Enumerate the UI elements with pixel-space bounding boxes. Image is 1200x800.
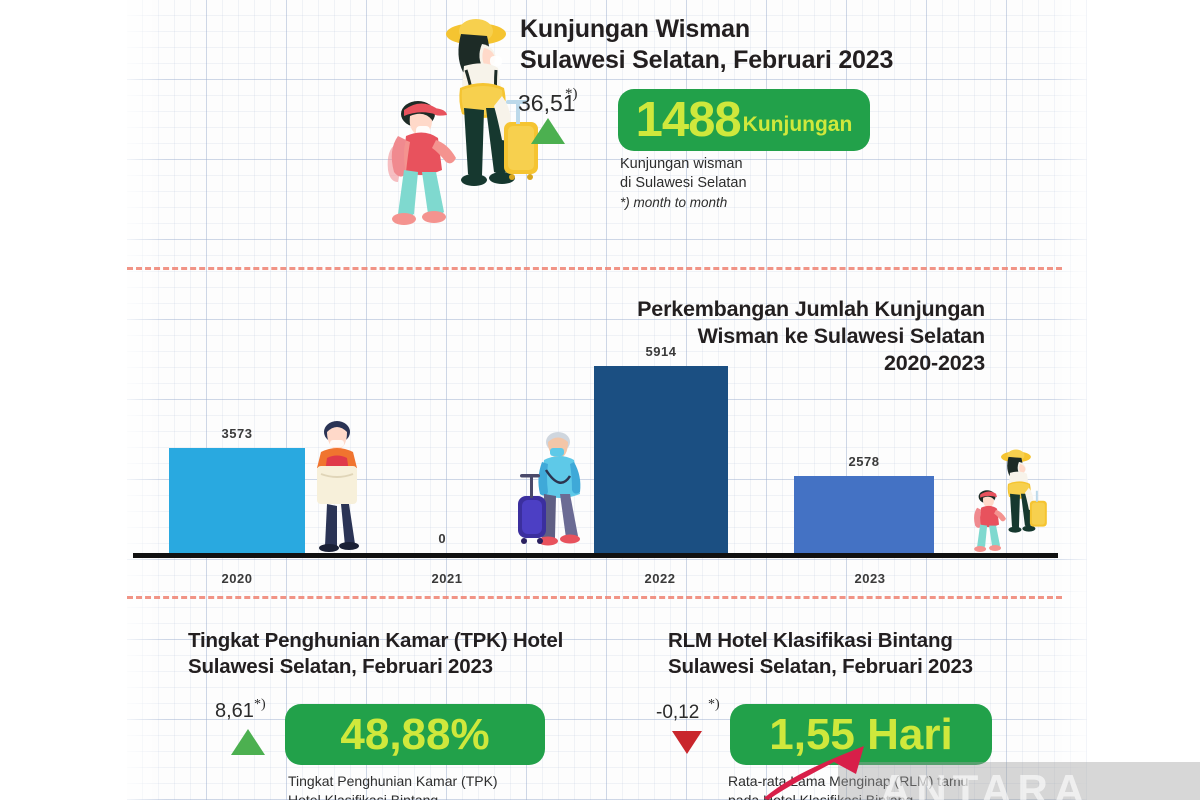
section1-caption-line1: Kunjungan wisman bbox=[620, 155, 920, 174]
x-tick-2022: 2022 bbox=[635, 571, 685, 586]
section3-left-delta-asterisk: *) bbox=[254, 697, 266, 713]
section1-title: Kunjungan Wisman Sulawesi Selatan, Febru… bbox=[520, 14, 990, 76]
chart-title-line1: Perkembangan Jumlah Kunjungan bbox=[585, 296, 985, 323]
section3-left-title-line1: Tingkat Penghunian Kamar (TPK) Hotel bbox=[188, 628, 618, 654]
bar-2022: 5914 bbox=[594, 366, 728, 553]
section1-caption-footnote: *) month to month bbox=[620, 193, 920, 212]
watermark-text: ANTARA bbox=[880, 766, 1090, 800]
standing-person-illustration bbox=[307, 418, 367, 553]
x-tick-2020: 2020 bbox=[212, 571, 262, 586]
section3-left-delta-value: 8,61 bbox=[215, 700, 254, 723]
x-tick-2021: 2021 bbox=[422, 571, 472, 586]
section3-right-badge-value: 1,55 Hari bbox=[769, 710, 952, 760]
man-with-suitcase-illustration bbox=[512, 430, 594, 555]
section1-value-badge: 1488 Kunjungan bbox=[618, 89, 870, 151]
triangle-down-icon bbox=[672, 731, 702, 754]
bar-2023: 2578 bbox=[794, 476, 934, 553]
chart-baseline-axis bbox=[133, 553, 1058, 558]
section1-badge-number: 1488 bbox=[636, 92, 741, 148]
section-divider-1 bbox=[127, 267, 1062, 270]
section3-left-caption-line2: Hotel Klasifikasi Bintang bbox=[288, 791, 588, 800]
section3-right-title-line2: Sulawesi Selatan, Februari 2023 bbox=[668, 654, 1048, 680]
bar-label-2022: 5914 bbox=[594, 344, 728, 359]
section3-left-badge-value: 48,88% bbox=[340, 710, 489, 760]
section3-right-title-line1: RLM Hotel Klasifikasi Bintang bbox=[668, 628, 1048, 654]
section1-title-line2: Sulawesi Selatan, Februari 2023 bbox=[520, 45, 990, 76]
triangle-up-icon bbox=[231, 729, 265, 755]
section3-right-delta-asterisk: *) bbox=[708, 697, 720, 713]
section3-left-value-badge: 48,88% bbox=[285, 704, 545, 765]
traveler-family-illustration-small bbox=[951, 442, 1063, 554]
triangle-up-icon bbox=[531, 118, 565, 144]
bar-label-2021: 0 bbox=[417, 531, 467, 546]
section3-right-delta-value: -0,12 bbox=[656, 702, 699, 724]
bar-label-2023: 2578 bbox=[794, 454, 934, 469]
section3-left-title: Tingkat Penghunian Kamar (TPK) Hotel Sul… bbox=[188, 628, 618, 680]
section3-left-title-line2: Sulawesi Selatan, Februari 2023 bbox=[188, 654, 618, 680]
bar-label-2020: 3573 bbox=[169, 426, 305, 441]
section1-badge-unit: Kunjungan bbox=[743, 113, 853, 137]
section1-caption-line2: di Sulawesi Selatan bbox=[620, 174, 920, 193]
section3-right-title: RLM Hotel Klasifikasi Bintang Sulawesi S… bbox=[668, 628, 1048, 680]
bar-chart: 3573 5914 2578 0 2020 2021 2022 2023 bbox=[127, 330, 1062, 590]
section1-caption: Kunjungan wisman di Sulawesi Selatan *) … bbox=[620, 155, 920, 212]
section3-right-value-badge: 1,55 Hari bbox=[730, 704, 992, 765]
section1-delta-asterisk: *) bbox=[565, 86, 578, 103]
infographic-page: Kunjungan Wisman Sulawesi Selatan, Febru… bbox=[0, 0, 1200, 800]
section3-left-caption: Tingkat Penghunian Kamar (TPK) Hotel Kla… bbox=[288, 772, 588, 800]
section-divider-2 bbox=[127, 596, 1062, 599]
section3-left-caption-line1: Tingkat Penghunian Kamar (TPK) bbox=[288, 772, 588, 791]
bar-2020: 3573 bbox=[169, 448, 305, 553]
x-tick-2023: 2023 bbox=[845, 571, 895, 586]
section1-title-line1: Kunjungan Wisman bbox=[520, 14, 990, 45]
